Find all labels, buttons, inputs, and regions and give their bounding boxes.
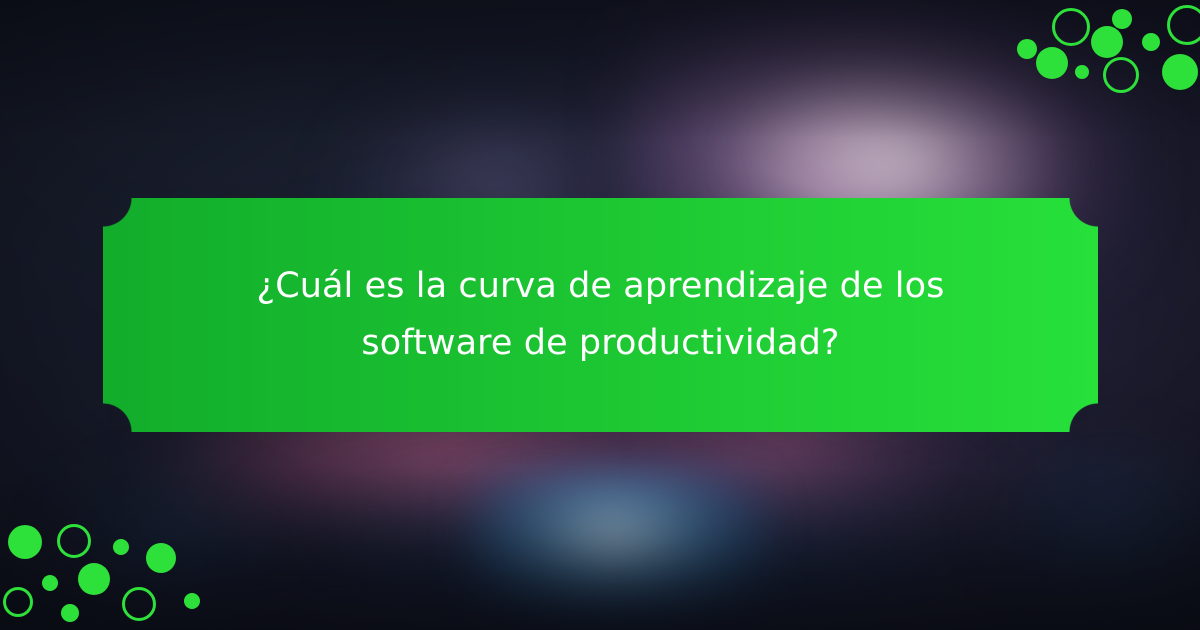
decorative-top-right-filled-circle	[1112, 9, 1132, 29]
question-card: ¿Cuál es la curva de aprendizaje de los …	[103, 198, 1098, 432]
decorative-top-right-filled-circle	[1091, 26, 1123, 58]
decorative-top-right-outline-circle	[1103, 57, 1139, 93]
decorative-top-right-filled-circle	[1075, 65, 1089, 79]
decorative-bottom-left-filled-circle	[42, 575, 58, 591]
decorative-bottom-left-filled-circle	[61, 604, 79, 622]
decorative-circles-top-right	[1000, 0, 1200, 110]
decorative-top-right-filled-circle	[1142, 33, 1160, 51]
decorative-top-right-filled-circle	[1036, 47, 1068, 79]
social-card-canvas: ¿Cuál es la curva de aprendizaje de los …	[0, 0, 1200, 630]
decorative-top-right-filled-circle	[1017, 39, 1037, 59]
decorative-circles-bottom-left	[0, 505, 215, 630]
decorative-bottom-left-filled-circle	[78, 563, 110, 595]
decorative-bottom-left-outline-circle	[57, 524, 91, 558]
question-title: ¿Cuál es la curva de aprendizaje de los …	[251, 258, 951, 371]
decorative-top-right-filled-circle	[1162, 54, 1198, 90]
decorative-top-right-outline-circle	[1167, 5, 1200, 45]
decorative-top-right-outline-circle	[1052, 8, 1090, 46]
decorative-bottom-left-filled-circle	[146, 543, 176, 573]
decorative-bottom-left-outline-circle	[3, 587, 33, 617]
decorative-bottom-left-filled-circle	[113, 539, 129, 555]
decorative-bottom-left-filled-circle	[8, 525, 42, 559]
decorative-bottom-left-filled-circle	[184, 593, 200, 609]
decorative-bottom-left-outline-circle	[122, 587, 156, 621]
